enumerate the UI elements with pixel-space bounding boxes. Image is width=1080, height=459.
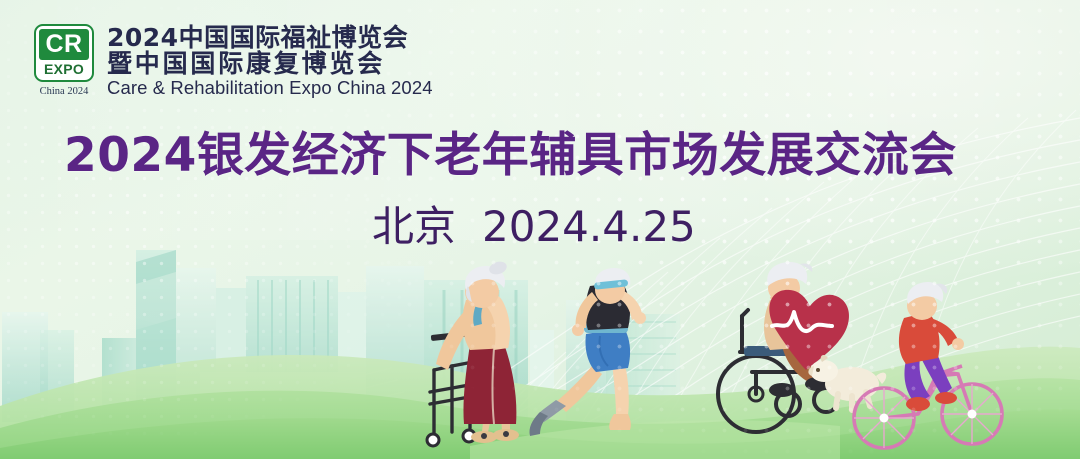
expo-title-cn-line2: 暨中国国际康复博览会 — [107, 51, 433, 77]
event-location-and-date: 北京2024.4.25 — [372, 206, 696, 248]
figure-service-dog — [808, 355, 886, 410]
city-skyline — [2, 250, 680, 432]
figure-elderly-woman-with-walker — [427, 260, 519, 446]
mesh-accent-left — [214, 368, 410, 459]
main-headline: 2024银发经济下老年辅具市场发展交流会 — [64, 132, 1020, 179]
event-city: 北京 — [372, 202, 456, 251]
expo-name-block: 2024中国国际福祉博览会 暨中国国际康复博览会 Care & Rehabili… — [107, 24, 433, 98]
hill-mid — [0, 378, 1080, 459]
expo-title-cn-line1: 2024中国国际福祉博览会 — [107, 25, 433, 51]
hill-highlight — [470, 420, 840, 459]
event-date: 2024.4.25 — [482, 202, 696, 251]
expo-title-en: Care & Rehabilitation Expo China 2024 — [107, 78, 433, 98]
expo-logo-word: EXPO — [44, 62, 84, 76]
expo-banner: CR EXPO China 2024 2024中国国际福祉博览会 暨中国国际康复… — [0, 0, 1080, 459]
figure-elderly-cyclist — [854, 282, 1002, 448]
hill-back — [0, 347, 1080, 459]
hill-front — [0, 409, 1080, 459]
logo-caption-china-2024: China 2024 — [34, 86, 94, 97]
figure-runner-with-prosthetic-leg — [529, 268, 646, 436]
cr-logo-letters: CR — [39, 29, 89, 60]
cr-expo-logo-badge: CR EXPO — [34, 24, 94, 82]
cr-expo-logo-mark: CR EXPO China 2024 — [34, 24, 94, 97]
expo-logo-lockup: CR EXPO China 2024 2024中国国际福祉博览会 暨中国国际康复… — [34, 24, 433, 98]
figure-wheelchair-user — [718, 262, 849, 432]
